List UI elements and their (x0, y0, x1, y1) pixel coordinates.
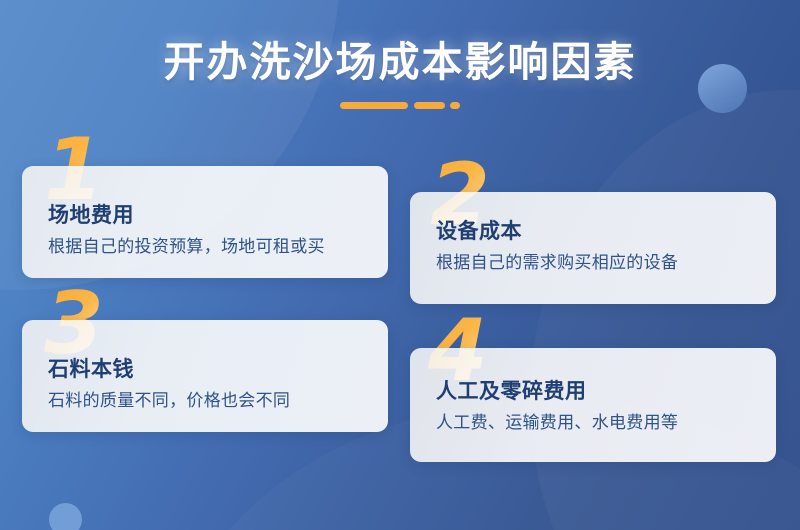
background-arc-right-decoration (530, 90, 800, 530)
factor-card-4-description: 人工费、运输费用、水电费用等 (436, 412, 750, 435)
page-title: 开办洗沙场成本影响因素 (0, 0, 800, 86)
infographic-poster: 开办洗沙场成本影响因素 1 场地费用 根据自己的投资预算，场地可租或买 2 设备… (0, 0, 800, 530)
divider-segment-dot (450, 102, 460, 109)
factor-card-3-description: 石料的质量不同，价格也会不同 (48, 390, 362, 413)
title-divider (340, 102, 460, 109)
factor-card-1-description: 根据自己的投资预算，场地可租或买 (48, 236, 362, 259)
factor-card-2[interactable]: 设备成本 根据自己的需求购买相应的设备 (410, 192, 776, 304)
divider-segment-long (340, 102, 408, 109)
background-circle-bottom-left-decoration (49, 503, 82, 530)
factor-card-2-description: 根据自己的需求购买相应的设备 (436, 252, 750, 275)
factor-card-4-title: 人工及零碎费用 (436, 378, 750, 405)
factor-card-2-title: 设备成本 (436, 218, 750, 245)
factor-card-1[interactable]: 场地费用 根据自己的投资预算，场地可租或买 (22, 166, 388, 278)
poster-header: 开办洗沙场成本影响因素 (0, 0, 800, 109)
factor-card-1-title: 场地费用 (48, 202, 362, 229)
factor-card-4[interactable]: 人工及零碎费用 人工费、运输费用、水电费用等 (410, 348, 776, 462)
divider-segment-mid (414, 102, 445, 109)
factor-card-3[interactable]: 石料本钱 石料的质量不同，价格也会不同 (22, 320, 388, 432)
factor-card-3-title: 石料本钱 (48, 356, 362, 383)
